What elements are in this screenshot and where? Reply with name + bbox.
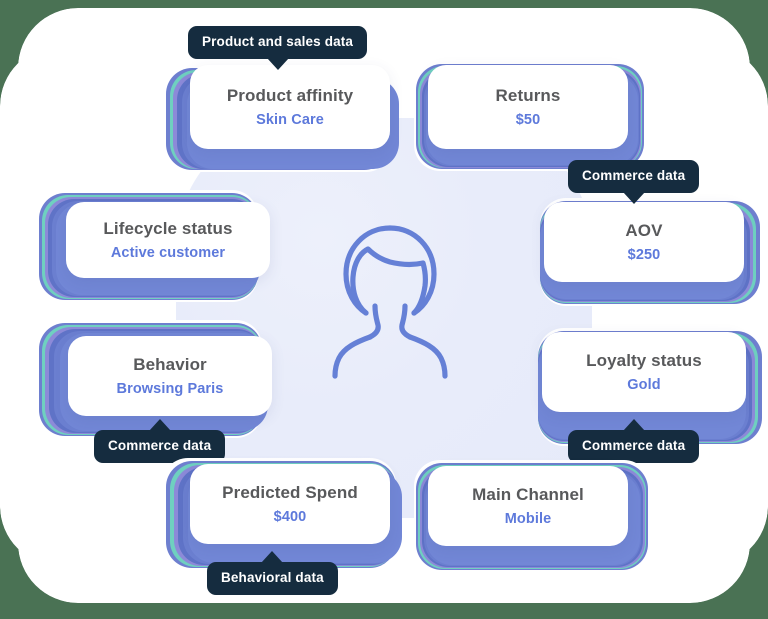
tooltip-label: Product and sales data (202, 34, 353, 49)
customer-profile-diagram: Product affinity Skin Care Product and s… (0, 0, 768, 619)
card-predicted-spend[interactable]: Predicted Spend $400 (190, 464, 390, 544)
card-main-channel[interactable]: Main Channel Mobile (428, 466, 628, 546)
card-title: Behavior (133, 354, 207, 375)
card-lifecycle-status[interactable]: Lifecycle status Active customer (66, 202, 270, 278)
card-product-affinity[interactable]: Product affinity Skin Care (190, 65, 390, 149)
node-product-affinity: Product affinity Skin Care Product and s… (58, 20, 388, 170)
card-value: Skin Care (256, 112, 324, 129)
card-value: Browsing Paris (117, 381, 224, 398)
card-loyalty-status[interactable]: Loyalty status Gold (542, 332, 746, 412)
card-title: Predicted Spend (222, 482, 358, 503)
tooltip-product-and-sales-data: Product and sales data (188, 26, 367, 59)
tooltip-label: Commerce data (582, 168, 685, 183)
card-value: Mobile (505, 511, 552, 528)
card-title: Loyalty status (586, 350, 702, 371)
card-value: $250 (628, 247, 661, 264)
card-title: Returns (496, 85, 561, 106)
card-title: Main Channel (472, 484, 584, 505)
tooltip-commerce-data-aov: Commerce data (568, 160, 699, 193)
card-title: Lifecycle status (103, 218, 232, 239)
node-main-channel: Main Channel Mobile (400, 452, 730, 582)
person-avatar-icon (326, 222, 454, 382)
card-returns[interactable]: Returns $50 (428, 65, 628, 149)
card-aov[interactable]: AOV $250 (544, 202, 744, 282)
tooltip-label: Commerce data (582, 438, 685, 453)
tooltip-label: Behavioral data (221, 570, 324, 585)
node-aov: AOV $250 Commerce data (500, 152, 768, 302)
card-title: AOV (625, 220, 662, 241)
node-lifecycle-status: Lifecycle status Active customer (22, 180, 322, 320)
card-value: Gold (627, 377, 660, 394)
card-title: Product affinity (227, 85, 353, 106)
card-value: Active customer (111, 245, 225, 262)
node-predicted-spend: Predicted Spend $400 Behavioral data (58, 450, 388, 615)
card-value: $400 (274, 509, 307, 526)
card-behavior[interactable]: Behavior Browsing Paris (68, 336, 272, 416)
card-value: $50 (516, 112, 541, 129)
tooltip-behavioral-data: Behavioral data (207, 562, 338, 595)
